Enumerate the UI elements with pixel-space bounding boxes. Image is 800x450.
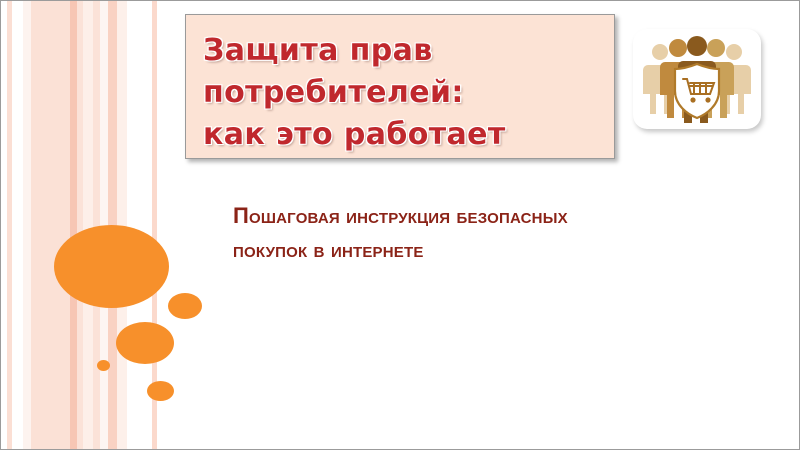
slide-title: Защита прав потребителей: как это работа…	[186, 15, 614, 156]
people-shield-cart-icon	[633, 29, 761, 129]
shield-shape	[675, 64, 719, 118]
title-box: Защита прав потребителей: как это работа…	[185, 14, 615, 159]
decorative-ellipse-small	[168, 293, 202, 319]
decorative-ellipse-large	[54, 225, 169, 308]
consumer-protection-icon	[633, 29, 761, 129]
decorative-ellipse-medium	[116, 322, 174, 364]
presentation-slide: Защита прав потребителей: как это работа…	[0, 0, 800, 450]
slide-subtitle: Пошаговая инструкция безопасных покупок …	[233, 199, 633, 267]
decorative-ellipse-tiny	[97, 360, 110, 371]
decorative-ellipse-bottom	[147, 381, 174, 401]
